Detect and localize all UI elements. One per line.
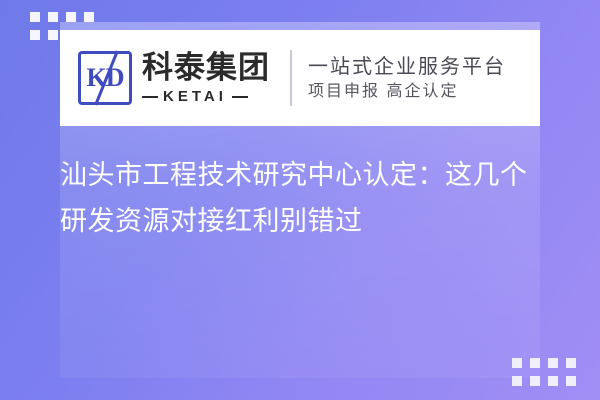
- ketai-logo-icon: KD: [78, 51, 132, 105]
- dot: [48, 30, 58, 40]
- vertical-divider: [290, 50, 292, 106]
- dot: [30, 12, 40, 22]
- dot: [530, 376, 540, 386]
- slogan-primary: 一站式企业服务平台: [308, 57, 506, 77]
- brand-header: KD 科泰集团 KETAI 一站式企业服务平台 项目申报 高企认定: [60, 30, 540, 126]
- header-slogans: 一站式企业服务平台 项目申报 高企认定: [308, 57, 506, 100]
- dot: [66, 12, 76, 22]
- logo: KD 科泰集团 KETAI: [60, 51, 284, 105]
- dot: [548, 358, 558, 368]
- logo-wordmark: 科泰集团 KETAI: [142, 51, 270, 105]
- dot: [566, 358, 576, 368]
- dot: [530, 358, 540, 368]
- dot: [512, 376, 522, 386]
- company-name-cn: 科泰集团: [142, 51, 270, 85]
- company-name-en-row: KETAI: [142, 88, 270, 105]
- logo-rule-right: [232, 96, 248, 98]
- poster-canvas: KD 科泰集团 KETAI 一站式企业服务平台 项目申报 高企认定 汕头市工程技…: [0, 0, 600, 400]
- slogan-secondary: 项目申报 高企认定: [308, 84, 506, 100]
- logo-rule-left: [142, 96, 158, 98]
- dot: [566, 376, 576, 386]
- dot: [84, 12, 94, 22]
- dot: [30, 30, 40, 40]
- dot: [48, 12, 58, 22]
- company-name-en: KETAI: [163, 88, 227, 105]
- page-title: 汕头市工程技术研究中心认定：这几个研发资源对接红利别错过: [60, 152, 540, 244]
- decorative-dots-bottom-right: [512, 358, 576, 386]
- dot: [548, 376, 558, 386]
- dot: [512, 358, 522, 368]
